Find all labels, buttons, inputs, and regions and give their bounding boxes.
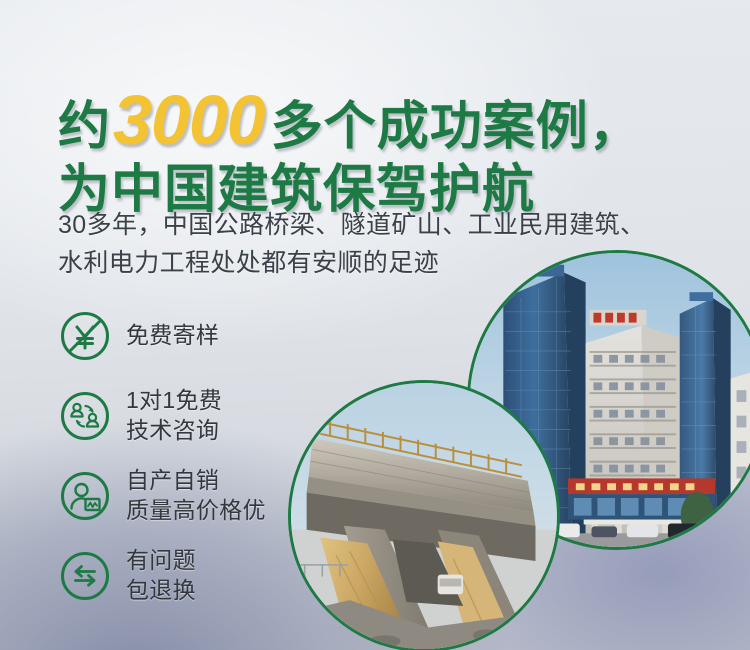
self-production-sales-icon: [58, 469, 112, 523]
feature-label-line-1: 自产自销: [126, 466, 266, 496]
feature-label-line-1: 有问题: [126, 546, 196, 576]
feature-label-line-1: 1对1免费: [126, 386, 222, 416]
feature-label-return: 有问题 包退换: [126, 546, 196, 606]
headline-line-1: 约3000多个成功案例，: [58, 84, 718, 157]
feature-label-consult: 1对1免费 技术咨询: [126, 386, 222, 446]
headline: 约3000多个成功案例， 为中国建筑保驾护航: [58, 84, 718, 217]
feature-label-line-1: 免费寄样: [126, 321, 219, 351]
headline-prefix: 约: [58, 98, 111, 156]
feature-label-line-2: 包退换: [126, 576, 196, 606]
feature-item-consult: 1对1免费 技术咨询: [58, 376, 358, 456]
subtitle-line-1: 30多年，中国公路桥梁、隧道矿山、工业民用建筑、: [58, 206, 738, 244]
promotional-banner: 约3000多个成功案例， 为中国建筑保驾护航 30多年，中国公路桥梁、隧道矿山、…: [0, 0, 750, 650]
feature-item-return: 有问题 包退换: [58, 536, 358, 616]
one-on-one-consult-icon: [58, 389, 112, 443]
free-sample-yuan-icon: [58, 309, 112, 363]
feature-label-free-sample: 免费寄样: [126, 321, 219, 351]
headline-suffix: 多个成功案例，: [271, 98, 642, 156]
feature-item-production: 自产自销 质量高价格优: [58, 456, 358, 536]
return-exchange-icon: [58, 549, 112, 603]
headline-number: 3000: [111, 81, 271, 159]
feature-label-line-2: 质量高价格优: [126, 496, 266, 526]
feature-label-production: 自产自销 质量高价格优: [126, 466, 266, 526]
feature-label-line-2: 技术咨询: [126, 416, 222, 446]
feature-item-free-sample: 免费寄样: [58, 296, 358, 376]
feature-list: 免费寄样 1对1免费 技术咨询: [58, 296, 358, 616]
